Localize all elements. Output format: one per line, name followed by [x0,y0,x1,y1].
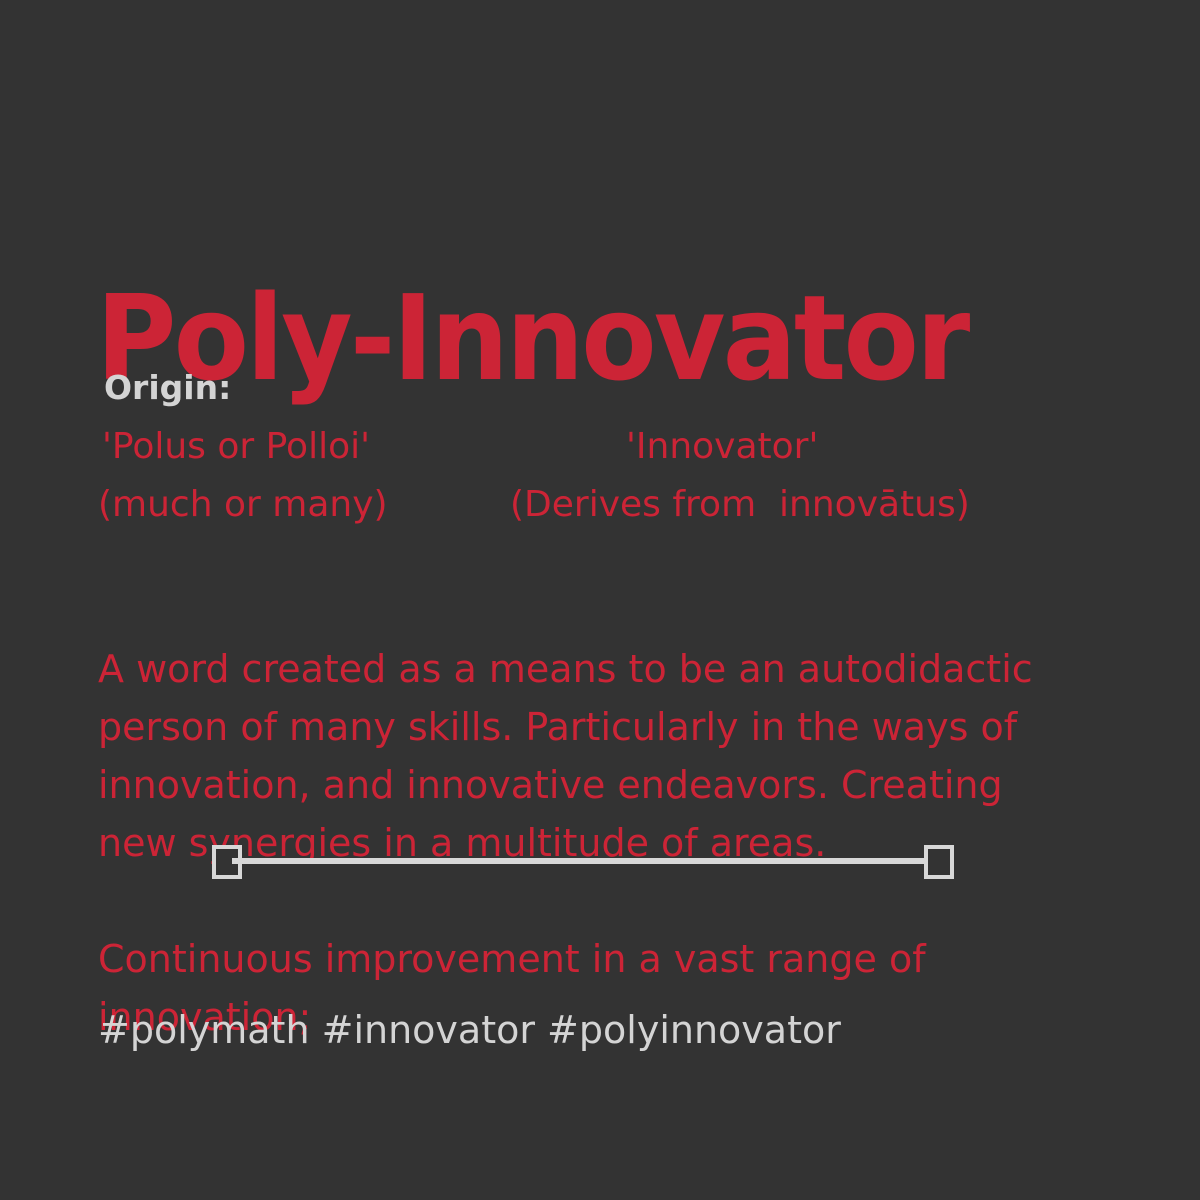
divider-right-endpoint-icon [924,845,954,879]
origin-greek-term: 'Polus or Polloi' [102,429,370,465]
definition-text: A word created as a means to be an autod… [98,640,1088,872]
section-divider [232,845,954,877]
origin-label: Origin: [104,370,231,406]
hashtag-list: #polymath #innovator #polyinnovator [98,1006,841,1054]
definition-card: Poly-Innovator Origin: 'Polus or Polloi'… [0,0,1200,1200]
origin-latin-term: 'Innovator' [626,429,818,465]
origin-block: 'Polus or Polloi' (much or many) 'Innova… [98,425,1108,535]
divider-rule [232,858,954,864]
origin-latin-gloss: (Derives from innovātus) [510,487,970,523]
origin-greek-gloss: (much or many) [98,487,388,523]
